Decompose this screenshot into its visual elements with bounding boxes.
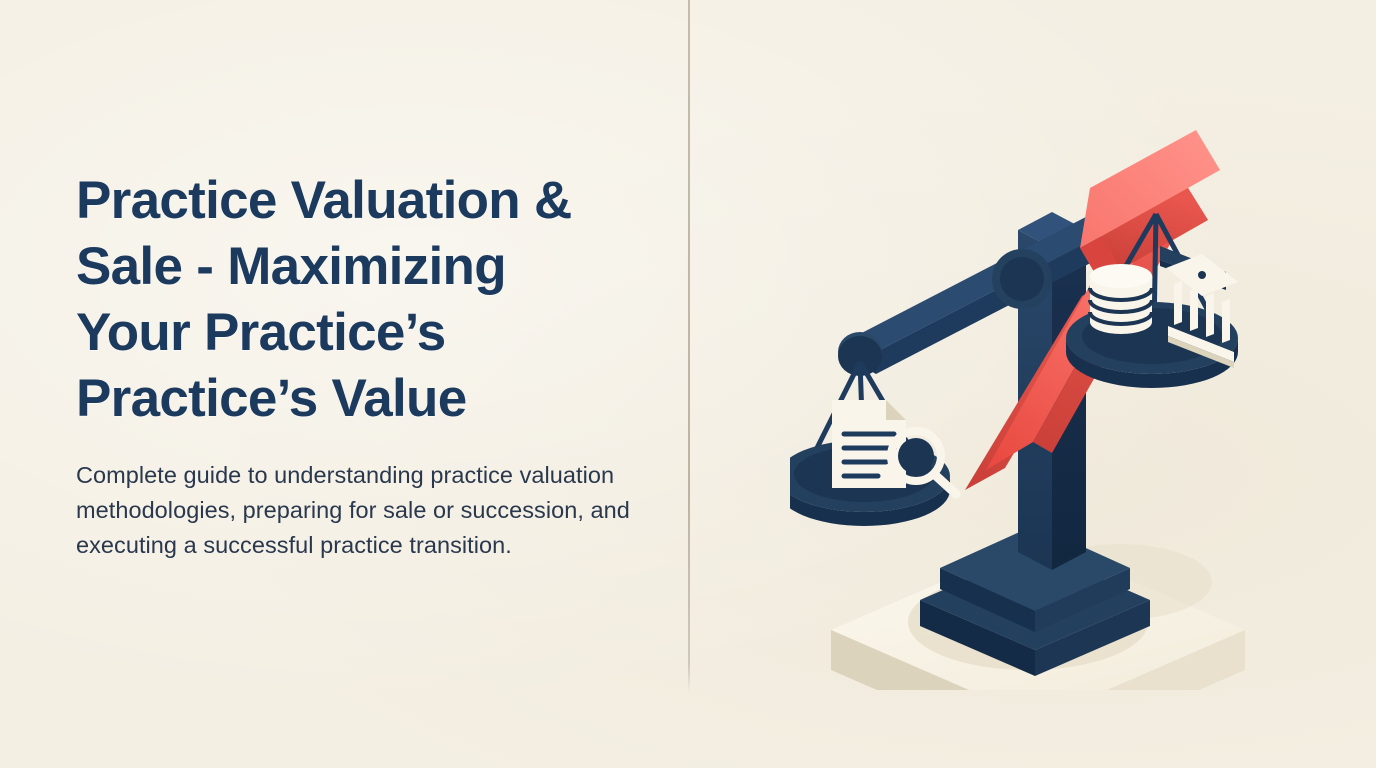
page-subtitle: Complete guide to understanding practice… — [76, 458, 666, 563]
left-pan-assembly — [790, 362, 956, 526]
hero-illustration — [790, 70, 1290, 690]
slide-root: Practice Valuation & Sale - Maximizing Y… — [0, 0, 1376, 768]
text-column: Practice Valuation & Sale - Maximizing Y… — [76, 168, 676, 563]
page-title: Practice Valuation & Sale - Maximizing Y… — [76, 168, 596, 432]
vertical-divider — [688, 0, 690, 692]
coin-stack-icon — [1090, 264, 1152, 334]
scale-illustration-svg — [790, 70, 1290, 690]
